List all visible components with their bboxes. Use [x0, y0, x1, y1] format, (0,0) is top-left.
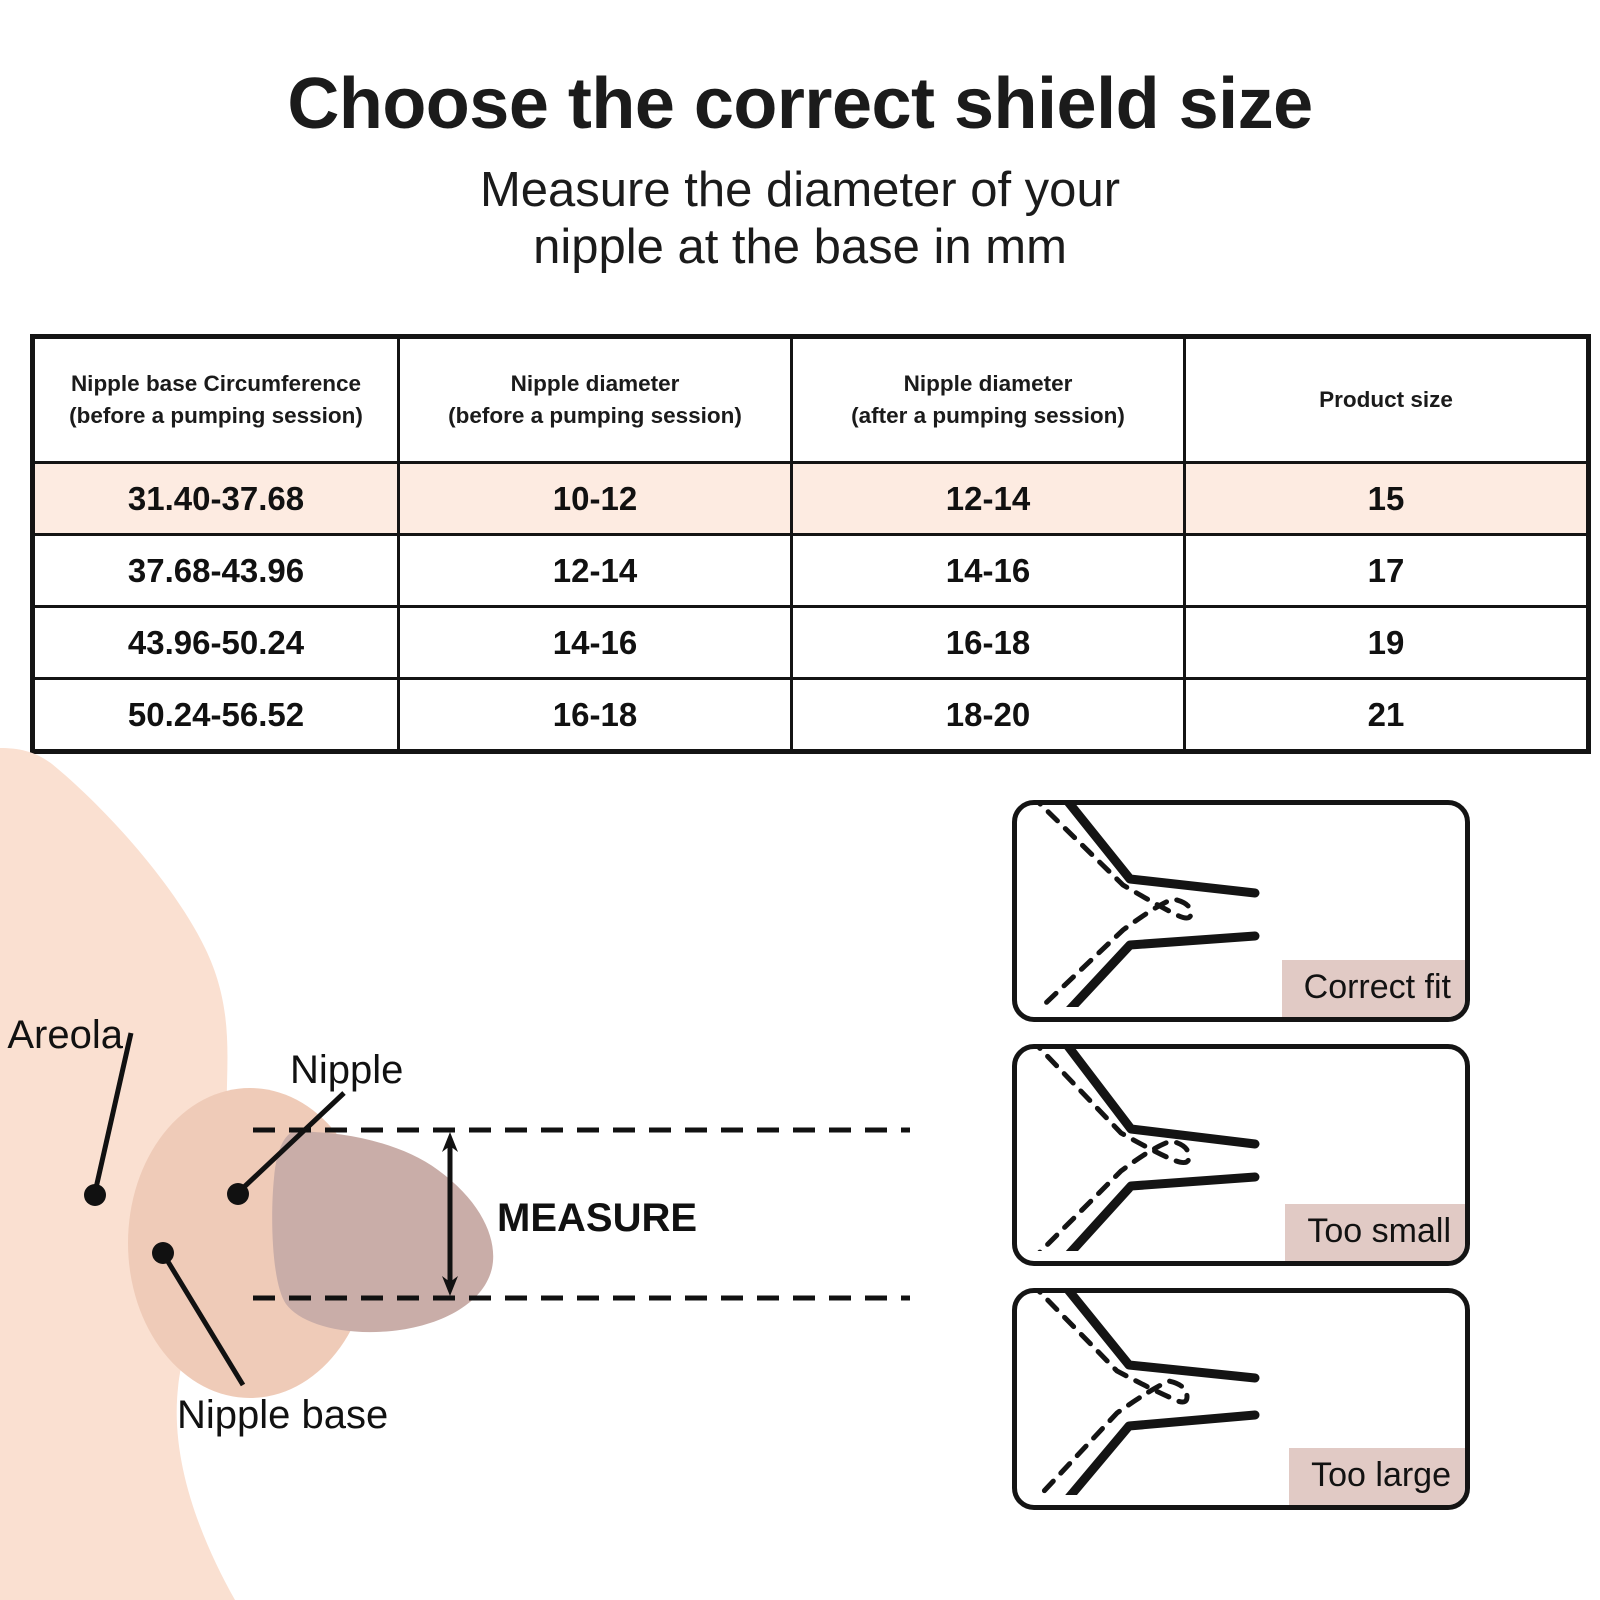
fit-panel-correct: Correct fit: [1012, 800, 1470, 1022]
table-body: 31.40-37.68 10-12 12-14 15 37.68-43.96 1…: [33, 463, 1589, 752]
column-header-line-2: (before a pumping session): [400, 400, 790, 432]
cell-diameter-after: 12-14: [792, 463, 1185, 535]
page-title: Choose the correct shield size: [0, 68, 1600, 140]
table-header: Nipple base Circumference (before a pump…: [33, 337, 1589, 463]
subtitle-line-1: Measure the diameter of your: [480, 163, 1120, 217]
cell-diameter-after: 14-16: [792, 535, 1185, 607]
fit-label-correct: Correct fit: [1282, 960, 1465, 1017]
table-row: 31.40-37.68 10-12 12-14 15: [33, 463, 1589, 535]
column-header-diameter-after: Nipple diameter (after a pumping session…: [792, 337, 1185, 463]
cell-circumference: 43.96-50.24: [33, 607, 399, 679]
cell-product-size: 19: [1185, 607, 1589, 679]
column-header-diameter-before: Nipple diameter (before a pumping sessio…: [399, 337, 792, 463]
cell-circumference: 50.24-56.52: [33, 679, 399, 752]
column-header-line-1: Nipple diameter: [793, 368, 1183, 400]
nipple-dashed-outline: [1031, 1049, 1189, 1251]
shield-outline: [1061, 805, 1255, 893]
cell-diameter-before: 14-16: [399, 607, 792, 679]
header: Choose the correct shield size Measure t…: [0, 0, 1600, 276]
column-header-line-1: Nipple diameter: [400, 368, 790, 400]
column-header-circumference: Nipple base Circumference (before a pump…: [33, 337, 399, 463]
cell-product-size: 15: [1185, 463, 1589, 535]
page-subtitle: Measure the diameter of your nipple at t…: [0, 162, 1600, 276]
column-header-line-1: Product size: [1186, 384, 1586, 416]
shield-outline-lower: [1061, 936, 1255, 1007]
cell-diameter-before: 16-18: [399, 679, 792, 752]
shield-outline: [1061, 1049, 1255, 1144]
areola-label: Areola: [7, 1013, 123, 1057]
cell-circumference: 31.40-37.68: [33, 463, 399, 535]
nipple-base-label: Nipple base: [177, 1393, 388, 1437]
cell-diameter-after: 16-18: [792, 607, 1185, 679]
nipple-dashed-outline: [1031, 805, 1191, 1007]
table-row: 50.24-56.52 16-18 18-20 21: [33, 679, 1589, 752]
fit-panel-too-small: Too small: [1012, 1044, 1470, 1266]
shield-size-guide-page: Choose the correct shield size Measure t…: [0, 0, 1600, 1600]
cell-diameter-after: 18-20: [792, 679, 1185, 752]
cell-circumference: 37.68-43.96: [33, 535, 399, 607]
fit-label-too-large: Too large: [1289, 1448, 1465, 1505]
column-header-line-2: (before a pumping session): [35, 400, 397, 432]
anatomy-svg: MEASURE Areola Nipple Nipple base: [0, 748, 960, 1600]
cell-product-size: 17: [1185, 535, 1589, 607]
cell-diameter-before: 12-14: [399, 535, 792, 607]
column-header-line-2: (after a pumping session): [793, 400, 1183, 432]
table-row: 43.96-50.24 14-16 16-18 19: [33, 607, 1589, 679]
fit-panel-too-large: Too large: [1012, 1288, 1470, 1510]
subtitle-line-2: nipple at the base in mm: [533, 220, 1067, 274]
breast-anatomy-diagram: MEASURE Areola Nipple Nipple base: [0, 748, 960, 1600]
table-header-row: Nipple base Circumference (before a pump…: [33, 337, 1589, 463]
cell-product-size: 21: [1185, 679, 1589, 752]
nipple-shape: [272, 1132, 493, 1332]
column-header-line-1: Nipple base Circumference: [35, 368, 397, 400]
shield-outline: [1061, 1293, 1255, 1378]
measure-label: MEASURE: [497, 1196, 697, 1240]
shield-outline-lower: [1061, 1415, 1255, 1495]
shield-outline-lower: [1061, 1177, 1255, 1251]
nipple-dashed-outline: [1031, 1293, 1187, 1495]
column-header-product-size: Product size: [1185, 337, 1589, 463]
size-chart-table: Nipple base Circumference (before a pump…: [30, 334, 1591, 754]
nipple-label: Nipple: [290, 1048, 403, 1092]
table-row: 37.68-43.96 12-14 14-16 17: [33, 535, 1589, 607]
fit-label-too-small: Too small: [1285, 1204, 1465, 1261]
cell-diameter-before: 10-12: [399, 463, 792, 535]
